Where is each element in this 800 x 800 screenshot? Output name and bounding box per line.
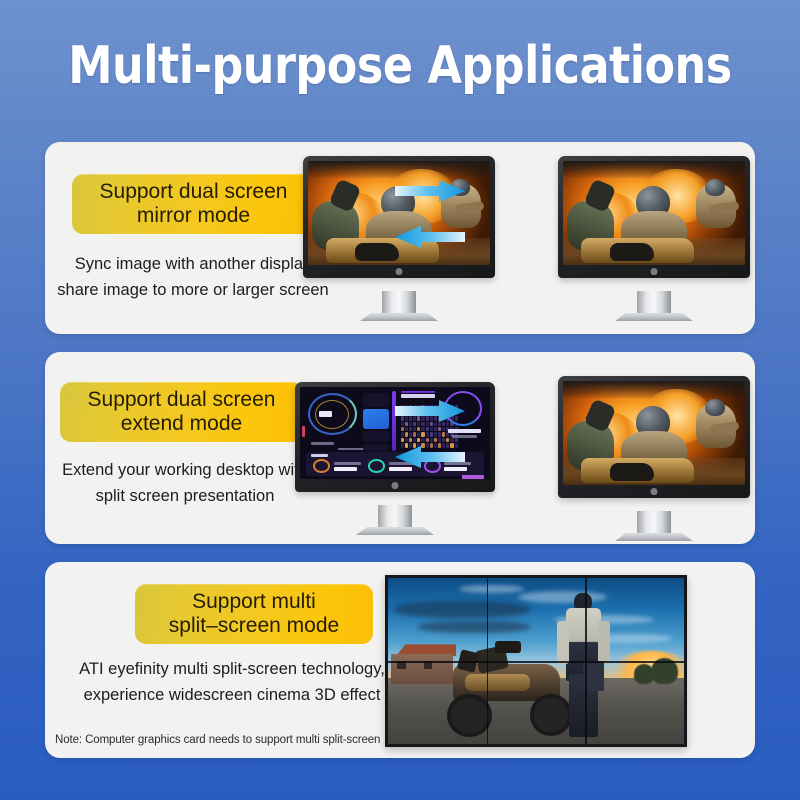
screen-left-mirror	[308, 161, 490, 265]
monitor-logo-icon	[651, 268, 658, 275]
arrow-left-icon	[395, 446, 465, 468]
section-card-multi-split-screen: Support multi split–screen mode ATI eyef…	[45, 562, 755, 758]
badge-mirror-mode: Support dual screen mirror mode	[72, 174, 315, 234]
arrow-left-icon	[395, 226, 465, 248]
section-card-extend-mode: Support dual screen extend mode Extend y…	[45, 352, 755, 544]
arrow-right-icon	[395, 400, 465, 422]
monitor-right-extend	[558, 376, 750, 498]
game-scene-image	[308, 161, 490, 265]
blurb-mirror-mode: Sync image with another display share im…	[57, 252, 329, 303]
screen-right-mirror	[563, 161, 745, 265]
badge-multi-split-screen: Support multi split–screen mode	[135, 584, 373, 644]
page-title: Multi-purpose Applications	[20, 36, 780, 96]
badge-extend-mode: Support dual screen extend mode	[60, 382, 303, 442]
blurb-multi-split-screen: ATI eyefinity multi split-screen technol…	[67, 657, 397, 708]
note-graphics-card: Note: Computer graphics card needs to su…	[55, 734, 380, 746]
arrow-right-icon	[395, 180, 465, 202]
poster-root: Multi-purpose Applications Support dual …	[0, 0, 800, 800]
monitor-logo-icon	[651, 488, 658, 495]
monitor-logo-icon	[392, 482, 399, 489]
screen-right-extend	[563, 381, 745, 485]
monitor-left-mirror	[303, 156, 495, 278]
video-wall-seam	[388, 661, 684, 663]
video-wall-image	[388, 578, 684, 744]
blurb-extend-mode: Extend your working desktop with split s…	[49, 458, 321, 509]
monitor-logo-icon	[396, 268, 403, 275]
monitor-left-extend	[295, 382, 495, 492]
game-scene-image	[563, 381, 745, 485]
game-scene-image	[563, 161, 745, 265]
section-card-mirror-mode: Support dual screen mirror mode Sync ima…	[45, 142, 755, 334]
video-wall	[385, 575, 687, 747]
monitor-right-mirror	[558, 156, 750, 278]
dashboard-accent-card	[363, 409, 390, 429]
